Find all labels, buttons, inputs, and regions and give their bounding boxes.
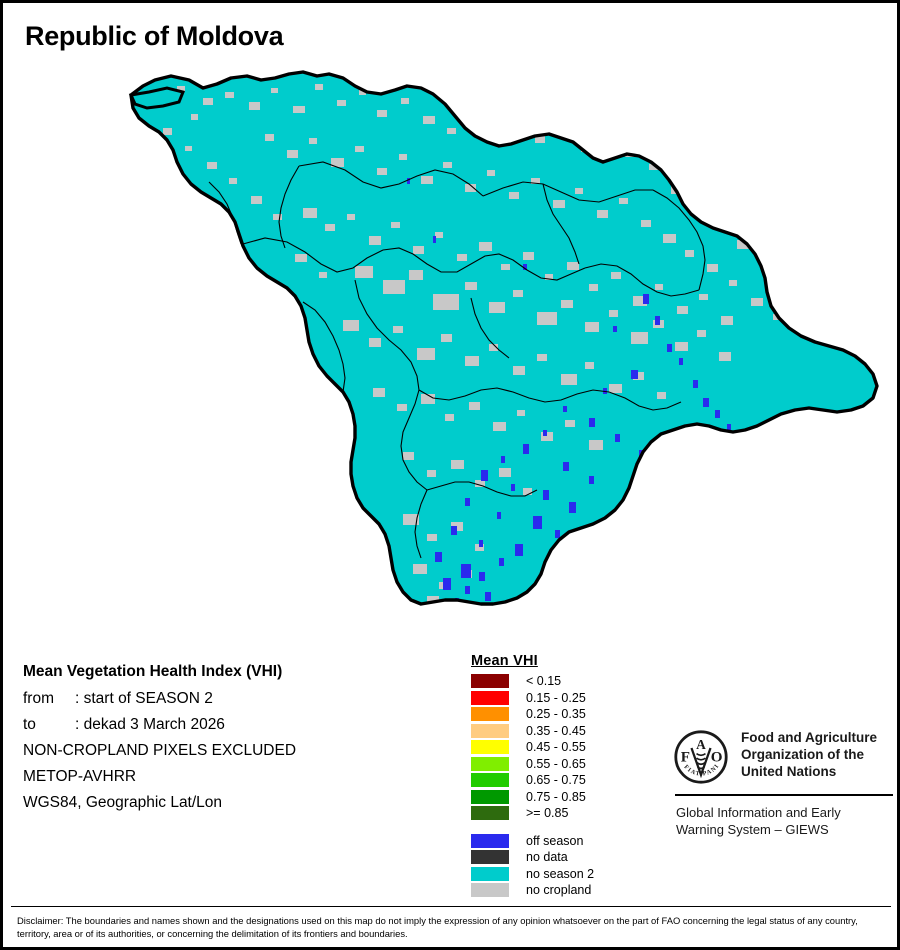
- legend-swatch: [471, 674, 509, 688]
- map-legend: Mean VHI < 0.15 0.15 - 0.25 0.25 - 0.35 …: [471, 653, 594, 899]
- fao-org-line3: United Nations: [741, 763, 877, 780]
- info-from-row: from: start of SEASON 2: [23, 686, 453, 712]
- legend-label: 0.55 - 0.65: [526, 757, 586, 771]
- legend-row-no-season-2: no season 2: [471, 866, 594, 883]
- legend-label: 0.45 - 0.55: [526, 740, 586, 754]
- fao-emblem-svg: F A O FIAT PANIS: [673, 729, 729, 785]
- legend-label: 0.65 - 0.75: [526, 773, 586, 787]
- legend-row-off-season: off season: [471, 833, 594, 850]
- legend-label: < 0.15: [526, 674, 561, 688]
- info-from-label: from: [23, 686, 75, 712]
- disclaimer-text: Disclaimer: The boundaries and names sho…: [17, 915, 887, 940]
- map-info-block: Mean Vegetation Health Index (VHI) from:…: [23, 658, 453, 816]
- legend-swatch: [471, 806, 509, 820]
- legend-label: no season 2: [526, 867, 594, 881]
- legend-row: >= 0.85: [471, 805, 594, 822]
- info-sensor: METOP-AVHRR: [23, 764, 453, 790]
- legend-row: 0.45 - 0.55: [471, 739, 594, 756]
- legend-swatch: [471, 707, 509, 721]
- legend-row: 0.55 - 0.65: [471, 756, 594, 773]
- fao-branding: F A O FIAT PANIS Food and Agriculture Or…: [673, 729, 895, 838]
- info-to-label: to: [23, 712, 75, 738]
- legend-label: 0.25 - 0.35: [526, 707, 586, 721]
- fao-org-line2: Organization of the: [741, 746, 877, 763]
- fao-letter-o: O: [711, 749, 723, 765]
- legend-swatch: [471, 740, 509, 754]
- legend-spacer: [471, 822, 594, 833]
- country-choropleth: [131, 72, 877, 604]
- legend-row-no-data: no data: [471, 849, 594, 866]
- legend-row: 0.75 - 0.85: [471, 789, 594, 806]
- legend-swatch: [471, 790, 509, 804]
- info-from-value: : start of SEASON 2: [75, 690, 213, 707]
- legend-swatch: [471, 724, 509, 738]
- legend-swatch: [471, 867, 509, 881]
- legend-row: 0.15 - 0.25: [471, 690, 594, 707]
- page-title: Republic of Moldova: [25, 21, 283, 52]
- legend-row: < 0.15: [471, 673, 594, 690]
- legend-swatch: [471, 691, 509, 705]
- map-canvas[interactable]: [3, 58, 897, 638]
- legend-swatch: [471, 883, 509, 897]
- fao-organization-name: Food and Agriculture Organization of the…: [741, 729, 877, 780]
- giews-line1: Global Information and Early: [676, 804, 895, 821]
- legend-swatch: [471, 850, 509, 864]
- fao-letter-f: F: [681, 749, 690, 765]
- legend-label: 0.35 - 0.45: [526, 724, 586, 738]
- fao-logo-icon: F A O FIAT PANIS: [673, 729, 729, 785]
- fao-org-line1: Food and Agriculture: [741, 729, 877, 746]
- legend-label: 0.15 - 0.25: [526, 691, 586, 705]
- country-fill-no-season-2: [131, 72, 877, 604]
- legend-label: no data: [526, 850, 568, 864]
- info-to-value: : dekad 3 March 2026: [75, 716, 225, 733]
- info-cropland-note: NON-CROPLAND PIXELS EXCLUDED: [23, 738, 453, 764]
- giews-line2: Warning System – GIEWS: [676, 821, 895, 838]
- fao-divider: [675, 794, 893, 796]
- legend-label: off season: [526, 834, 583, 848]
- moldova-map-svg: [3, 58, 897, 638]
- legend-label: 0.75 - 0.85: [526, 790, 586, 804]
- info-to-row: to: dekad 3 March 2026: [23, 712, 453, 738]
- info-projection: WGS84, Geographic Lat/Lon: [23, 790, 453, 816]
- legend-label: >= 0.85: [526, 806, 568, 820]
- info-heading: Mean Vegetation Health Index (VHI): [23, 658, 453, 686]
- disclaimer-divider: [11, 906, 891, 907]
- giews-name: Global Information and Early Warning Sys…: [676, 804, 895, 838]
- fao-header: F A O FIAT PANIS Food and Agriculture Or…: [673, 729, 895, 785]
- legend-swatch: [471, 834, 509, 848]
- legend-swatch: [471, 773, 509, 787]
- fao-letter-a: A: [696, 737, 706, 752]
- legend-title: Mean VHI: [471, 653, 594, 669]
- legend-row: 0.65 - 0.75: [471, 772, 594, 789]
- legend-swatch: [471, 757, 509, 771]
- map-page: Republic of Moldova: [0, 0, 900, 950]
- legend-row: 0.25 - 0.35: [471, 706, 594, 723]
- legend-row-no-cropland: no cropland: [471, 882, 594, 899]
- legend-row: 0.35 - 0.45: [471, 723, 594, 740]
- legend-label: no cropland: [526, 883, 591, 897]
